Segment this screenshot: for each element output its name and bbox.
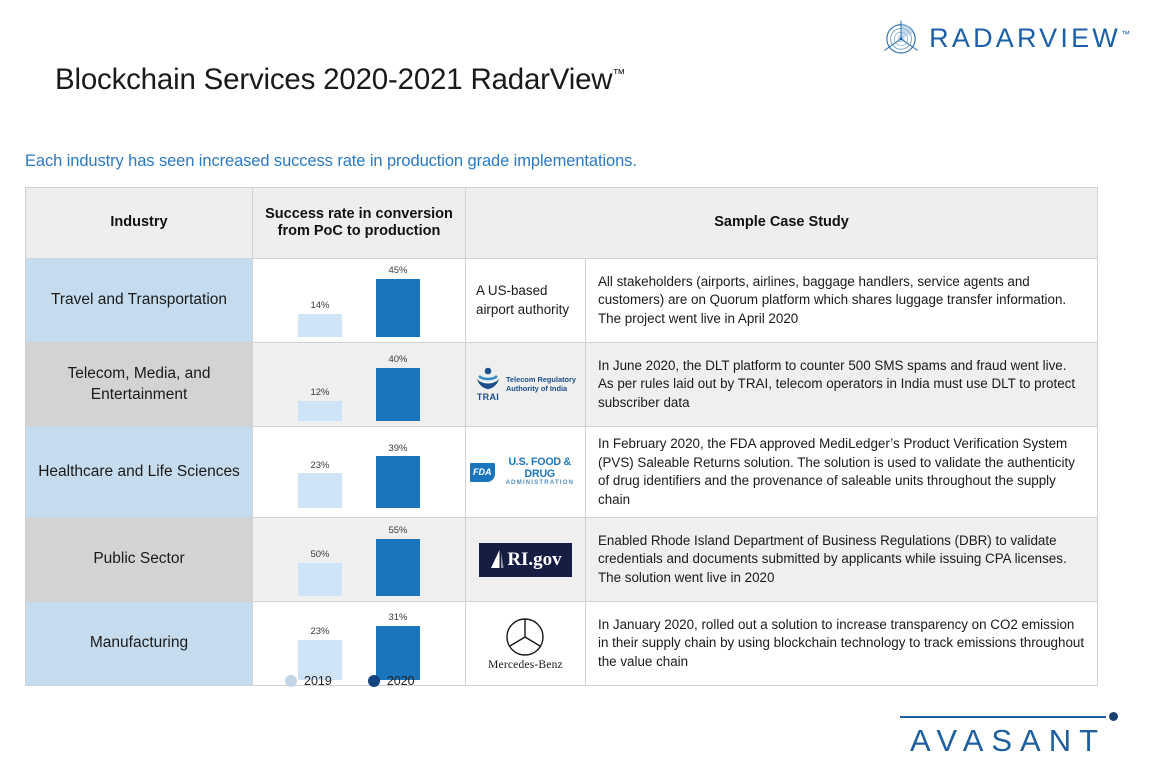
mercedes-star-icon [505, 617, 545, 657]
avasant-logo: AVASANT [886, 712, 1124, 756]
industry-cell: Telecom, Media, and Entertainment [26, 343, 253, 427]
bar-2019 [298, 563, 342, 596]
table-row: Healthcare and Life Sciences 23% 39% FDA [26, 427, 1098, 518]
legend-swatch-2020-icon [368, 675, 380, 687]
radarview-wordmark: RADARVIEW™ [929, 25, 1130, 52]
bar-2020 [376, 279, 420, 337]
fda-badge-icon: FDA [470, 463, 495, 482]
sailboat-icon [489, 549, 505, 571]
bar-value-label-2019: 14% [310, 301, 329, 311]
bar-group-2020: 55% [376, 521, 420, 596]
table-row: Telecom, Media, and Entertainment 12% 40… [26, 343, 1098, 427]
success-rate-cell: 12% 40% [253, 343, 466, 427]
trai-wave-icon [475, 367, 501, 391]
avasant-dot-icon [1109, 712, 1118, 721]
bar-group-2020: 40% [376, 346, 420, 421]
legend-swatch-2019-icon [285, 675, 297, 687]
bar-value-label-2020: 45% [388, 266, 407, 276]
fda-line-2: ADMINISTRATION [499, 480, 582, 487]
success-rate-cell: 23% 31% [253, 602, 466, 686]
bar-value-label-2020: 55% [388, 526, 407, 536]
legend-label-2020: 2020 [387, 674, 415, 688]
case-study-source: A US-based airport authority [466, 259, 586, 343]
case-study-source: FDA U.S. FOOD & DRUG ADMINISTRATION [466, 427, 586, 518]
legend-item-2020: 2020 [368, 674, 415, 688]
success-rate-cell: 50% 55% [253, 518, 466, 602]
column-header-success-rate: Success rate in conversion from PoC to p… [253, 188, 466, 259]
bar-group-2019: 12% [298, 346, 342, 421]
table-body: Travel and Transportation 14% 45% A US-b… [26, 259, 1098, 686]
case-study-source: RI.gov [466, 518, 586, 602]
bar-value-label-2019: 23% [310, 461, 329, 471]
industry-cell: Healthcare and Life Sciences [26, 427, 253, 518]
bar-group-2020: 39% [376, 433, 420, 508]
fda-line-1: U.S. FOOD & DRUG [499, 457, 582, 480]
page-title: Blockchain Services 2020-2021 RadarView™ [55, 63, 625, 97]
trai-mark-icon: TRAI [475, 367, 501, 402]
radar-target-icon [881, 18, 921, 58]
bar-value-label-2020: 39% [388, 444, 407, 454]
bar-value-label-2019: 23% [310, 627, 329, 637]
table-header-row: Industry Success rate in conversion from… [26, 188, 1098, 259]
trai-full-name: Telecom Regulatory Authority of India [506, 376, 576, 393]
radarview-trademark: ™ [1121, 29, 1130, 39]
ri-gov-wordmark: RI.gov [507, 550, 561, 569]
bar-chart: 23% 31% [253, 605, 465, 683]
ri-gov-badge: RI.gov [479, 543, 571, 577]
bar-chart: 14% 45% [253, 262, 465, 340]
mercedes-benz-wordmark: Mercedes-Benz [488, 659, 563, 671]
ri-gov-logo: RI.gov [470, 543, 581, 577]
case-study-source: Mercedes-Benz [466, 602, 586, 686]
success-rate-cell: 23% 39% [253, 427, 466, 518]
case-study-description: Enabled Rhode Island Department of Busin… [586, 518, 1098, 602]
bar-2020 [376, 626, 420, 680]
industry-cell: Travel and Transportation [26, 259, 253, 343]
bar-value-label-2019: 12% [310, 388, 329, 398]
bar-chart: 23% 39% [253, 433, 465, 511]
radarview-logo: RADARVIEW™ [881, 18, 1130, 58]
bar-group-2019: 50% [298, 521, 342, 596]
bar-2020 [376, 539, 420, 596]
table-row: Manufacturing 23% 31% [26, 602, 1098, 686]
case-study-description: In January 2020, rolled out a solution t… [586, 602, 1098, 686]
table-row: Public Sector 50% 55% [26, 518, 1098, 602]
column-header-industry: Industry [26, 188, 253, 259]
trai-logo: TRAI Telecom Regulatory Authority of Ind… [470, 367, 581, 402]
bar-group-2019: 14% [298, 262, 342, 337]
page-title-trademark: ™ [612, 66, 625, 81]
bar-group-2020: 31% [376, 605, 420, 680]
table-row: Travel and Transportation 14% 45% A US-b… [26, 259, 1098, 343]
bar-2019 [298, 473, 342, 508]
legend-label-2019: 2019 [304, 674, 332, 688]
page-subtitle: Each industry has seen increased success… [25, 152, 637, 171]
industry-success-table: Industry Success rate in conversion from… [25, 187, 1098, 686]
avasant-line [900, 716, 1106, 718]
mercedes-benz-logo: Mercedes-Benz [470, 617, 581, 671]
trai-line-2: Authority of India [506, 385, 576, 394]
legend-item-2019: 2019 [285, 674, 332, 688]
bar-2020 [376, 456, 420, 508]
bar-chart: 12% 40% [253, 346, 465, 424]
bar-value-label-2019: 50% [310, 550, 329, 560]
success-rate-cell: 14% 45% [253, 259, 466, 343]
avasant-rule-decoration [900, 712, 1118, 722]
bar-group-2019: 23% [298, 433, 342, 508]
case-study-description: In February 2020, the FDA approved MediL… [586, 427, 1098, 518]
bar-2019 [298, 314, 342, 337]
bar-value-label-2020: 40% [388, 355, 407, 365]
case-study-description: In June 2020, the DLT platform to counte… [586, 343, 1098, 427]
page-title-text: Blockchain Services 2020-2021 RadarView [55, 63, 612, 96]
table-header: Industry Success rate in conversion from… [26, 188, 1098, 259]
fda-logo: FDA U.S. FOOD & DRUG ADMINISTRATION [470, 457, 581, 487]
case-study-source: TRAI Telecom Regulatory Authority of Ind… [466, 343, 586, 427]
trai-abbreviation: TRAI [477, 392, 499, 402]
bar-2019 [298, 401, 342, 421]
industry-cell: Manufacturing [26, 602, 253, 686]
case-study-description: All stakeholders (airports, airlines, ba… [586, 259, 1098, 343]
bar-group-2020: 45% [376, 262, 420, 337]
avasant-wordmark: AVASANT [886, 725, 1124, 756]
bar-value-label-2020: 31% [388, 613, 407, 623]
bar-2020 [376, 368, 420, 421]
bar-chart: 50% 55% [253, 521, 465, 599]
radarview-name: RADARVIEW [929, 23, 1121, 53]
industry-cell: Public Sector [26, 518, 253, 602]
fda-wordmark: U.S. FOOD & DRUG ADMINISTRATION [499, 457, 582, 487]
chart-legend: 2019 2020 [285, 674, 415, 688]
column-header-sample-case-study: Sample Case Study [466, 188, 1098, 259]
bar-group-2019: 23% [298, 605, 342, 680]
